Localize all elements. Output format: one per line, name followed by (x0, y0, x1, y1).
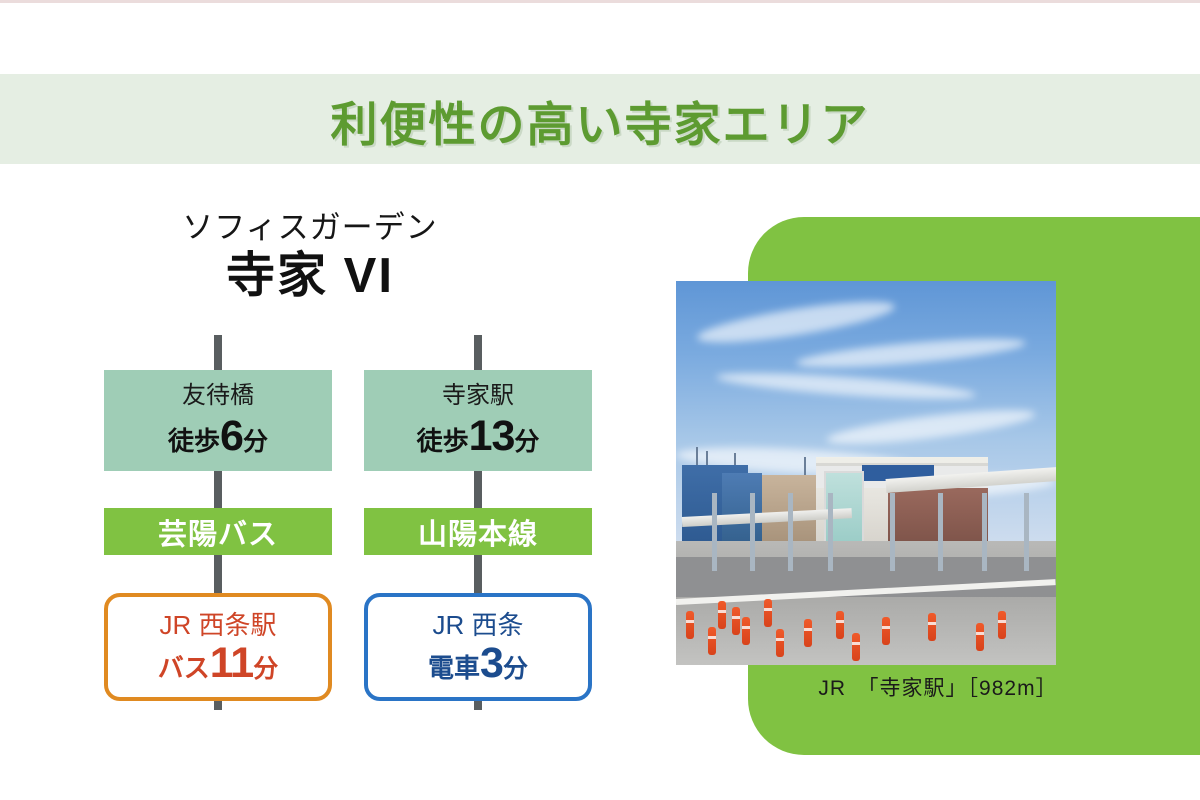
transit-line-label: 山陽本線 (418, 511, 538, 553)
route-column-bus: 友待橋 徒歩6分 芸陽バス JR 西条駅 バス11分 (104, 335, 332, 710)
photo-canopy-post (890, 493, 895, 571)
walk-place-label: 友待橋 (104, 382, 332, 411)
photo-traffic-cone (742, 617, 750, 645)
brand-name: 寺家 VI (0, 248, 620, 304)
walk-node-train: 寺家駅 徒歩13分 (364, 370, 592, 471)
walk-mode-label: 徒歩 (417, 426, 469, 456)
destination-mode-label: バス (158, 653, 210, 683)
walk-place-label: 寺家駅 (364, 382, 592, 411)
photo-building (722, 473, 762, 541)
walk-node-bus: 友待橋 徒歩6分 (104, 370, 332, 471)
destination-mode-label: 電車 (428, 653, 480, 683)
photo-traffic-cone (764, 599, 772, 627)
photo-caption: JR 「寺家駅」［982m］ (748, 672, 1128, 702)
photo-antenna (696, 447, 698, 467)
photo-traffic-cone (804, 619, 812, 647)
destination-minutes-unit: 分 (503, 655, 528, 683)
photo-canopy-post (1024, 493, 1029, 571)
photo-traffic-cone (686, 611, 694, 639)
destination-minutes: 11 (210, 639, 253, 687)
walk-minutes-unit: 分 (243, 428, 268, 456)
top-hairline (0, 0, 1200, 3)
photo-traffic-cone (776, 629, 784, 657)
photo-traffic-cone (836, 611, 844, 639)
destination-node-train: JR 西条 電車3分 (364, 593, 592, 701)
walk-duration: 徒歩13分 (364, 413, 592, 460)
walk-mode-label: 徒歩 (168, 426, 220, 456)
destination-place-label: JR 西条 (368, 610, 588, 641)
property-brand: ソフィスガーデン 寺家 VI (0, 210, 620, 304)
photo-canopy-post (712, 493, 717, 571)
walk-minutes-unit: 分 (514, 428, 539, 456)
destination-minutes: 3 (480, 639, 503, 687)
photo-traffic-cone (732, 607, 740, 635)
walk-duration: 徒歩6分 (104, 413, 332, 460)
photo-traffic-cone (718, 601, 726, 629)
photo-antenna (804, 457, 806, 475)
destination-node-bus: JR 西条駅 バス11分 (104, 593, 332, 701)
photo-traffic-cone (976, 623, 984, 651)
photo-canopy-post (982, 493, 987, 571)
transit-line-bus: 芸陽バス (104, 508, 332, 555)
transit-line-label: 芸陽バス (158, 511, 278, 553)
photo-traffic-cone (998, 611, 1006, 639)
photo-canopy-post (750, 493, 755, 571)
destination-place-label: JR 西条駅 (108, 610, 328, 641)
destination-minutes-unit: 分 (253, 655, 278, 683)
route-column-train: 寺家駅 徒歩13分 山陽本線 JR 西条 電車3分 (364, 335, 592, 710)
photo-canopy-post (788, 493, 793, 571)
photo-traffic-cone (708, 627, 716, 655)
photo-traffic-cone (882, 617, 890, 645)
photo-canopy-post (938, 493, 943, 571)
photo-canopy-post (828, 493, 833, 571)
brand-subtitle: ソフィスガーデン (0, 210, 620, 246)
destination-duration: 電車3分 (368, 641, 588, 686)
route-diagram: ソフィスガーデン 寺家 VI 友待橋 徒歩6分 芸陽バス JR 西条駅 バス11… (0, 200, 660, 720)
transit-line-train: 山陽本線 (364, 508, 592, 555)
destination-duration: バス11分 (108, 641, 328, 686)
walk-minutes: 13 (469, 412, 515, 460)
walk-minutes: 6 (220, 412, 243, 460)
station-photo (676, 281, 1056, 665)
photo-traffic-cone (928, 613, 936, 641)
page-title: 利便性の高い寺家エリア (0, 86, 1200, 155)
photo-traffic-cone (852, 633, 860, 661)
